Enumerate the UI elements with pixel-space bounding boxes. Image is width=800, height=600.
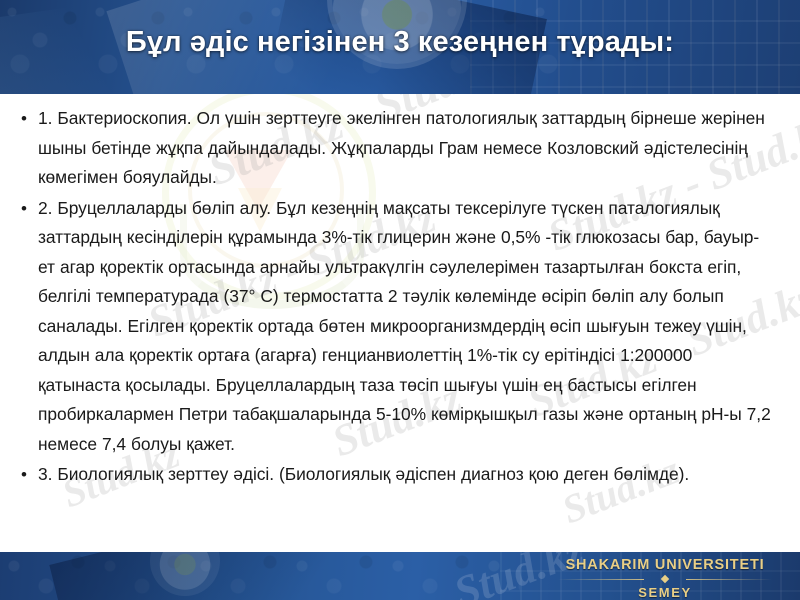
presentation-slide: Бұл әдіс негізінен 3 кезеңнен тұрады: St… (0, 0, 800, 600)
bullet-list: • 1. Бактериоскопия. Ол үшін зерттеуге э… (0, 94, 800, 491)
list-item-text: 2. Бруцеллаларды бөліп алу. Бұл кезеңнің… (38, 194, 782, 460)
university-branding: SHAKARIM UNIVERSITETI SEMEY (550, 557, 780, 600)
bullet-marker-icon: • (10, 460, 38, 490)
list-item: • 2. Бруцеллаларды бөліп алу. Бұл кезеңн… (10, 194, 782, 460)
footer-facet-dark (49, 552, 410, 600)
list-item: • 3. Биологиялық зерттеу әдісі. (Биологи… (10, 460, 782, 490)
university-city: SEMEY (550, 585, 780, 600)
slide-content-area: Stud.kz - Stud.kz Stud.kz - Stud.kz Stud… (0, 94, 800, 552)
slide-footer-band: Stud.kz SHAKARIM UNIVERSITETI SEMEY (0, 552, 800, 600)
slide-title: Бұл әдіс негізінен 3 кезеңнен тұрады: (0, 26, 800, 59)
diamond-icon (661, 575, 669, 583)
list-item: • 1. Бактериоскопия. Ол үшін зерттеуге э… (10, 104, 782, 193)
university-name: SHAKARIM UNIVERSITETI (550, 557, 780, 573)
bullet-marker-icon: • (10, 104, 38, 134)
slide-header-band: Бұл әдіс негізінен 3 кезеңнен тұрады: (0, 0, 800, 94)
list-item-text: 1. Бактериоскопия. Ол үшін зерттеуге эке… (38, 104, 782, 193)
list-item-text: 3. Биологиялық зерттеу әдісі. (Биологиял… (38, 460, 782, 490)
brand-separator (550, 574, 780, 585)
bullet-marker-icon: • (10, 194, 38, 224)
